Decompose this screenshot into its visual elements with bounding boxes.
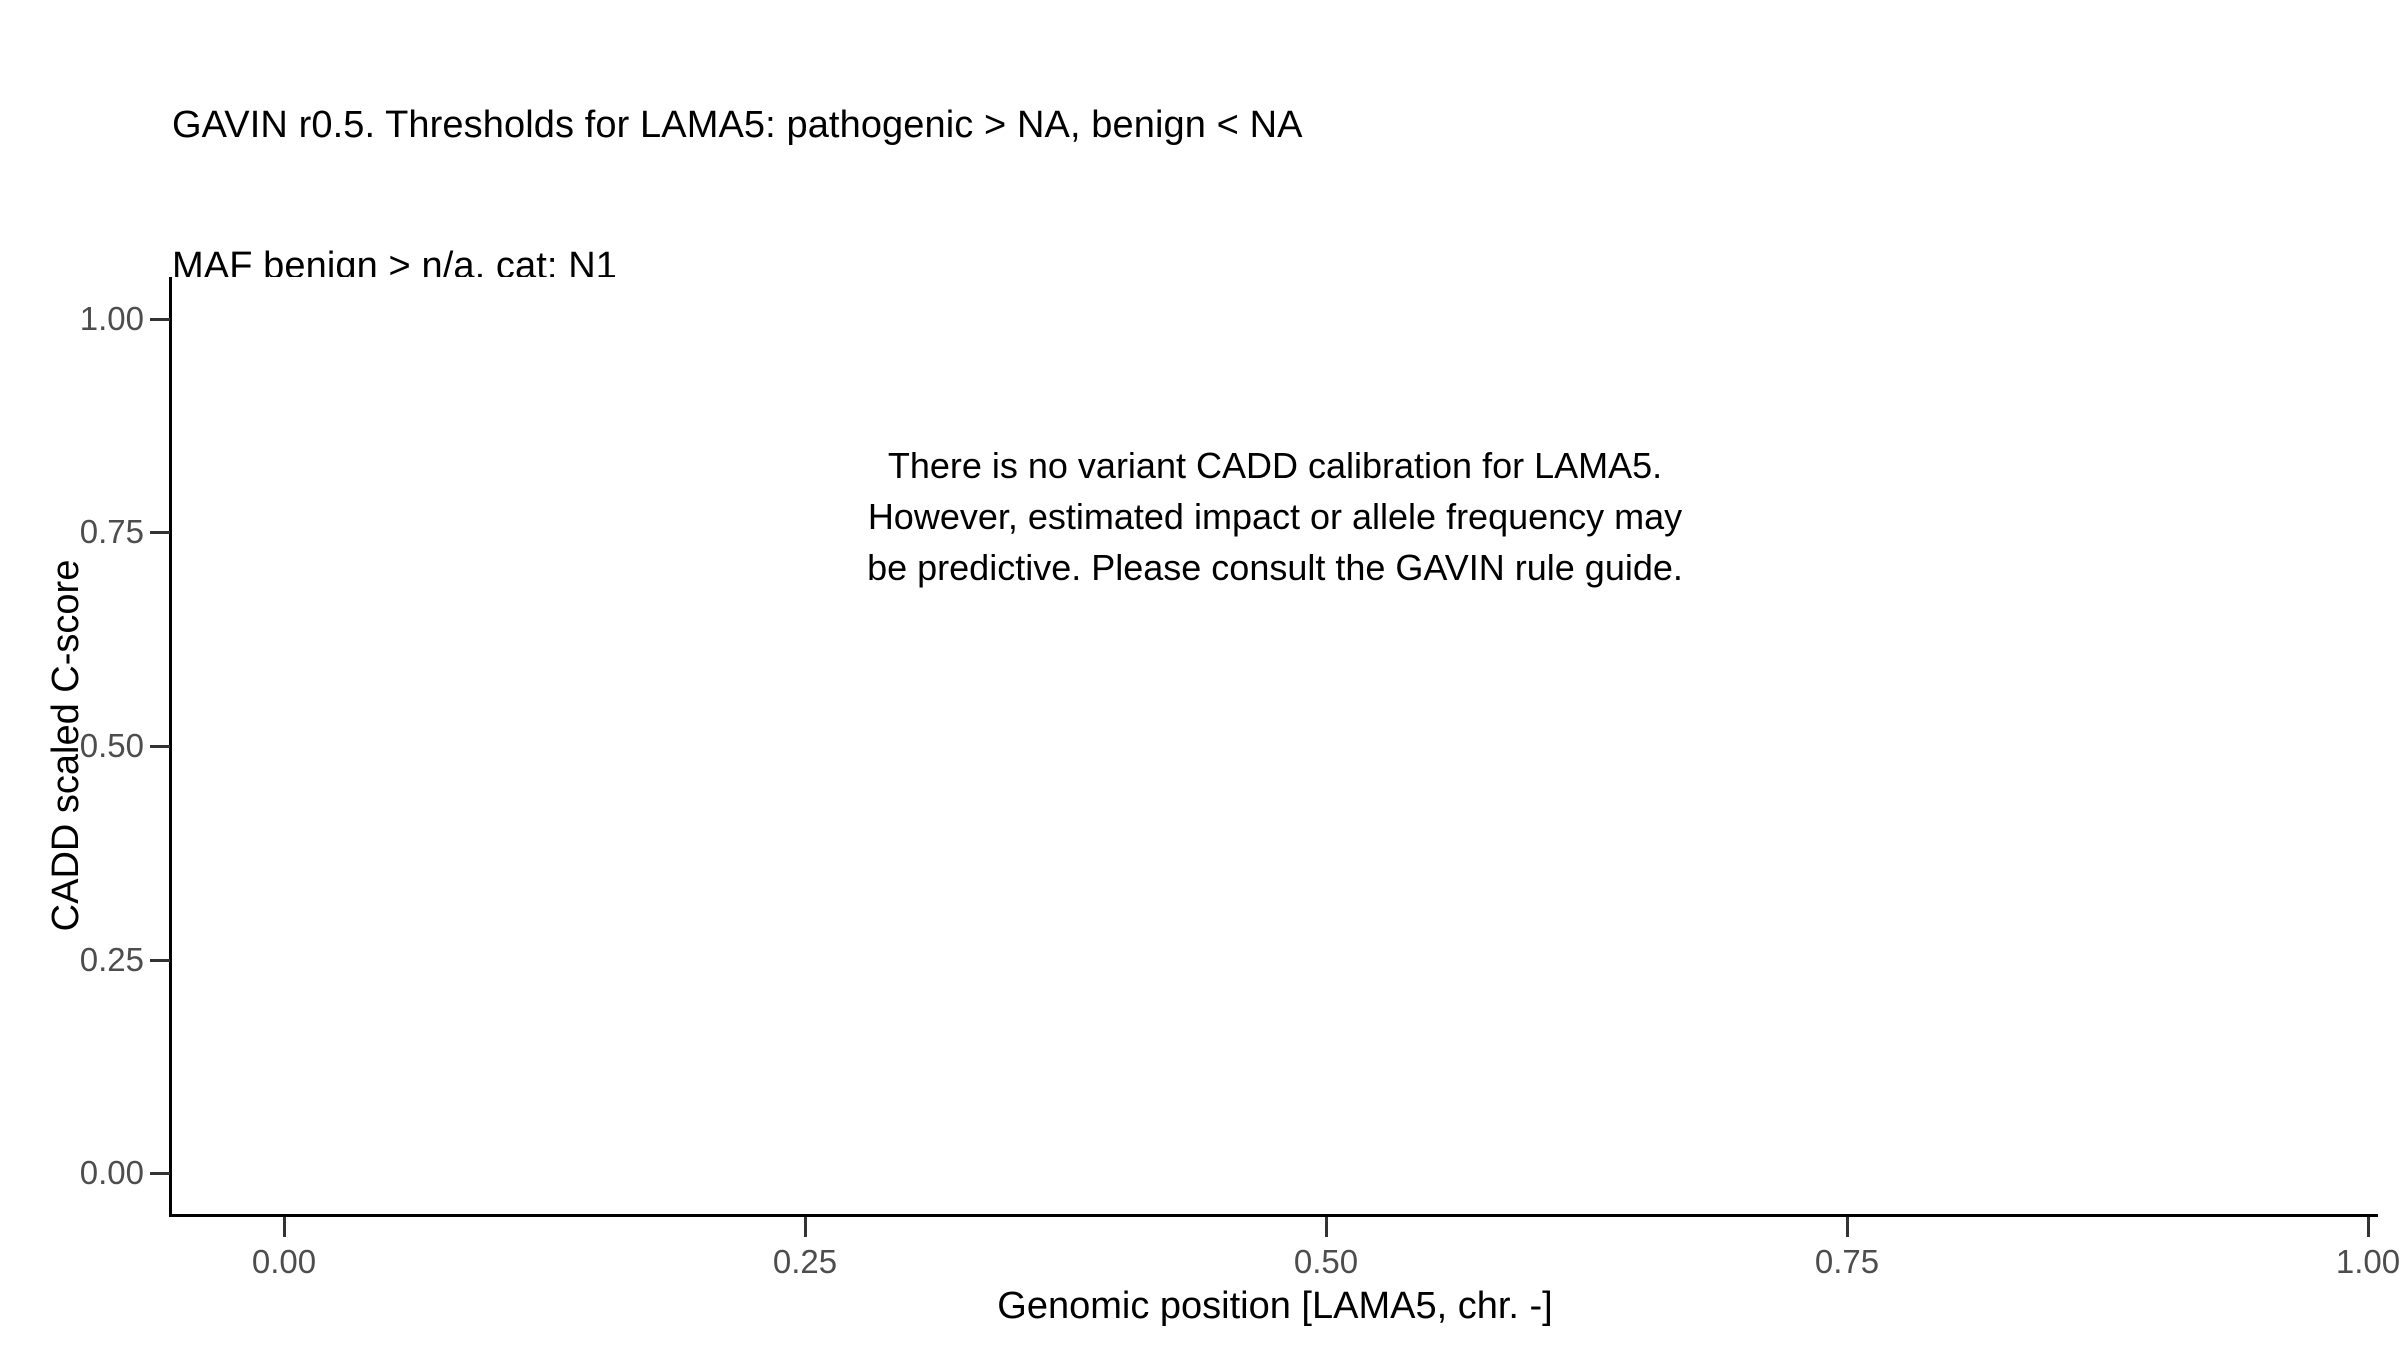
x-axis-ticklabel-1-00: 1.00: [2336, 1243, 2400, 1281]
x-axis-ticklabel-0-50: 0.50: [1294, 1243, 1358, 1281]
x-axis-tick-1-00: [2367, 1217, 2370, 1237]
x-axis-ticklabel-0-75: 0.75: [1815, 1243, 1879, 1281]
plot-title-line-1: GAVIN r0.5. Thresholds for LAMA5: pathog…: [172, 102, 2352, 149]
annotation-line-3: be predictive. Please consult the GAVIN …: [172, 542, 2378, 593]
x-axis-title: Genomic position [LAMA5, chr. -]: [172, 1285, 2378, 1328]
y-axis-tick-1-00: [150, 318, 170, 321]
chart-screenshot: GAVIN r0.5. Thresholds for LAMA5: pathog…: [0, 0, 2400, 1350]
x-axis-ticklabel-0-25: 0.25: [773, 1243, 837, 1281]
y-axis-title: CADD scaled C-score: [33, 277, 99, 1214]
y-axis-tick-0-50: [150, 745, 170, 748]
y-axis-tick-0-00: [150, 1172, 170, 1175]
x-axis-tick-0-50: [1325, 1217, 1328, 1237]
no-calibration-annotation: There is no variant CADD calibration for…: [172, 440, 2378, 593]
plot-panel: There is no variant CADD calibration for…: [172, 277, 2378, 1214]
x-axis-tick-0-00: [283, 1217, 286, 1237]
annotation-line-2: However, estimated impact or allele freq…: [172, 491, 2378, 542]
y-axis-tick-0-25: [150, 959, 170, 962]
y-axis-tick-0-75: [150, 531, 170, 534]
x-axis-ticklabel-0-00: 0.00: [252, 1243, 316, 1281]
x-axis-tick-0-25: [804, 1217, 807, 1237]
x-axis-tick-0-75: [1846, 1217, 1849, 1237]
annotation-line-1: There is no variant CADD calibration for…: [172, 440, 2378, 491]
